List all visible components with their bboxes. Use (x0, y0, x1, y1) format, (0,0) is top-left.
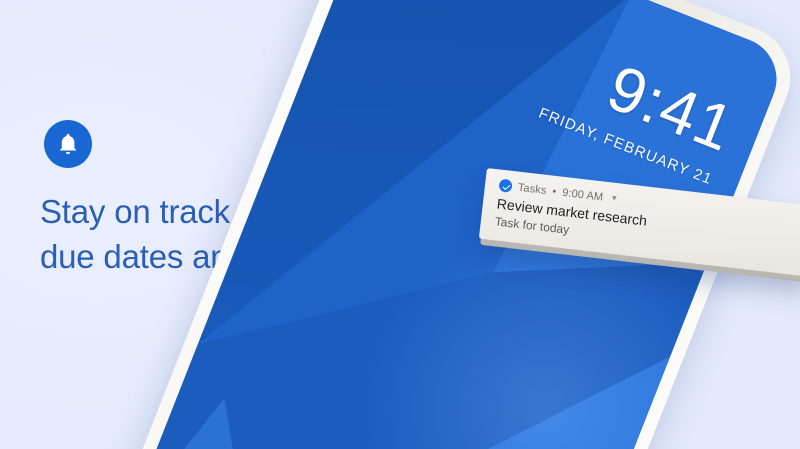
chevron-down-icon[interactable]: ▾ (611, 193, 617, 204)
bell-icon (56, 132, 80, 156)
notification-badge (44, 120, 92, 168)
notification-app-name: Tasks (517, 181, 547, 196)
tasks-check-icon (498, 179, 512, 193)
promo-banner: Stay on track with due dates and notific… (0, 0, 800, 449)
notification-time: 9:00 AM (562, 186, 604, 203)
notification-separator: • (552, 185, 557, 197)
